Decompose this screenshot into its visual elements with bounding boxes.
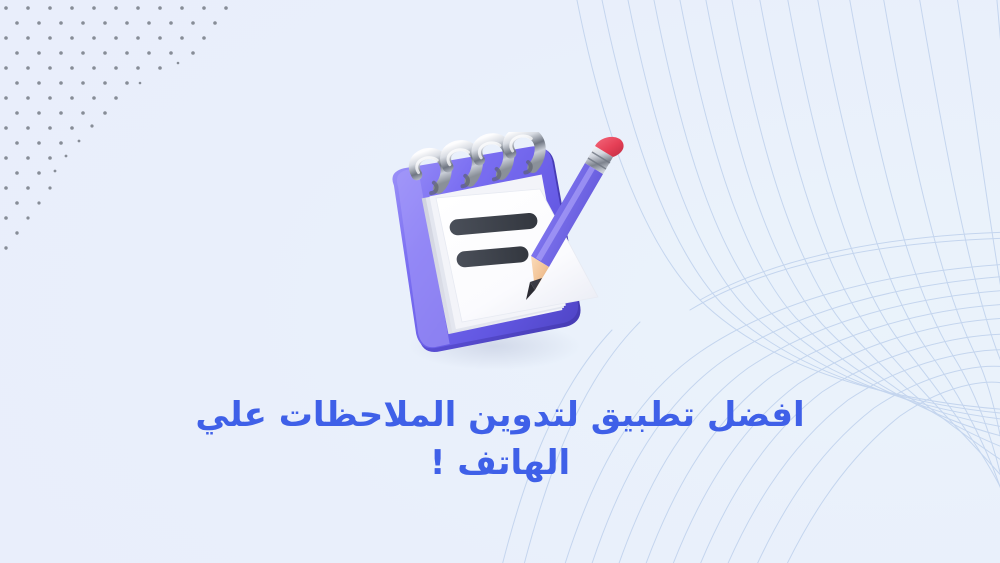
page-title: افضل تطبيق لتدوين الملاحظات علي الهاتف !	[190, 391, 810, 488]
poster-canvas: افضل تطبيق لتدوين الملاحظات علي الهاتف !	[0, 0, 1000, 563]
notepad-with-pencil-illustration	[374, 132, 644, 377]
headline-container: افضل تطبيق لتدوين الملاحظات علي الهاتف !	[0, 368, 1000, 510]
